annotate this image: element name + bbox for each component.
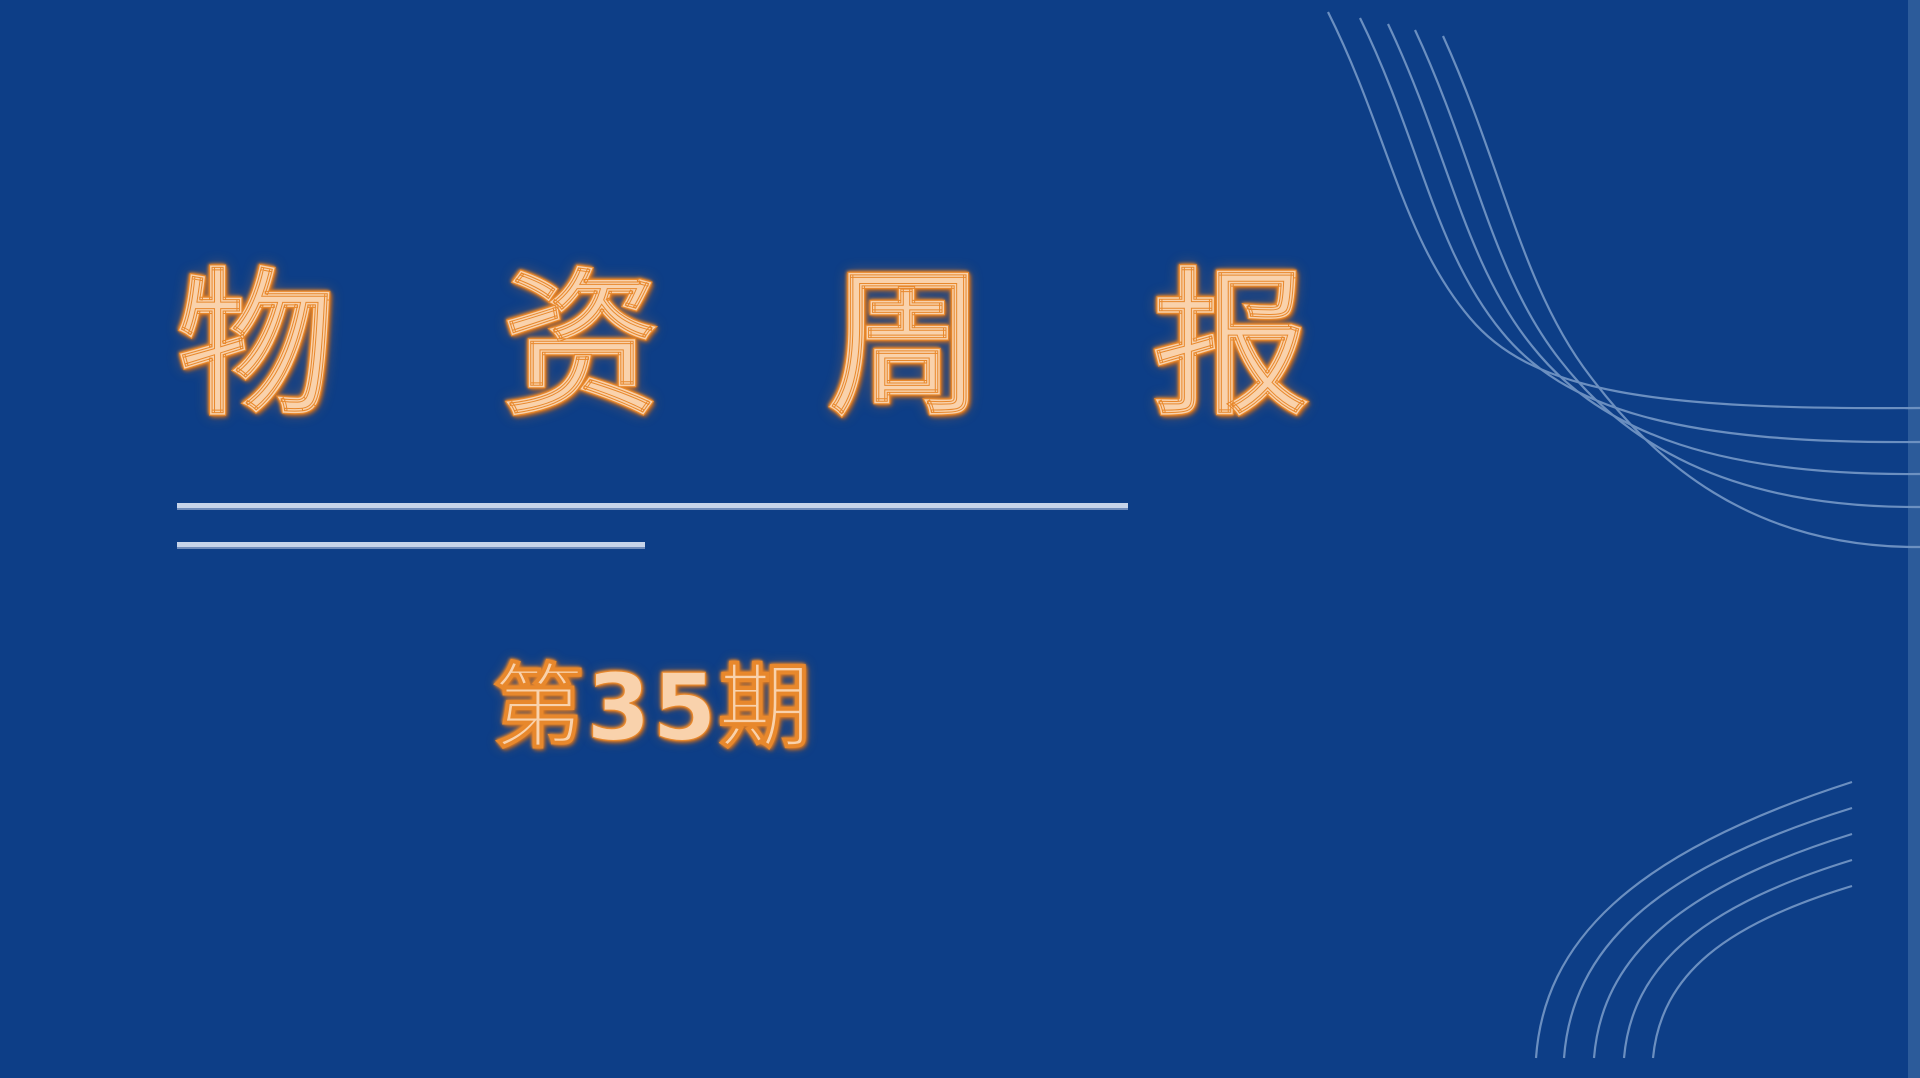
title-underline-long: [177, 503, 1128, 508]
arc-ribbon-lines-decoration: [1500, 738, 1920, 1078]
edge-rim-strip: [1908, 0, 1920, 1078]
s-curve-ribbon-lines-decoration: [1280, 0, 1920, 580]
title-underline-short: [177, 542, 645, 547]
page-title: 物 资 周 报: [177, 258, 1177, 435]
title-block: 物 资 周 报: [177, 258, 1177, 435]
cover-slide: 物 资 周 报 第35期: [0, 0, 1920, 1078]
issue-subtitle: 第35期: [177, 655, 1128, 761]
